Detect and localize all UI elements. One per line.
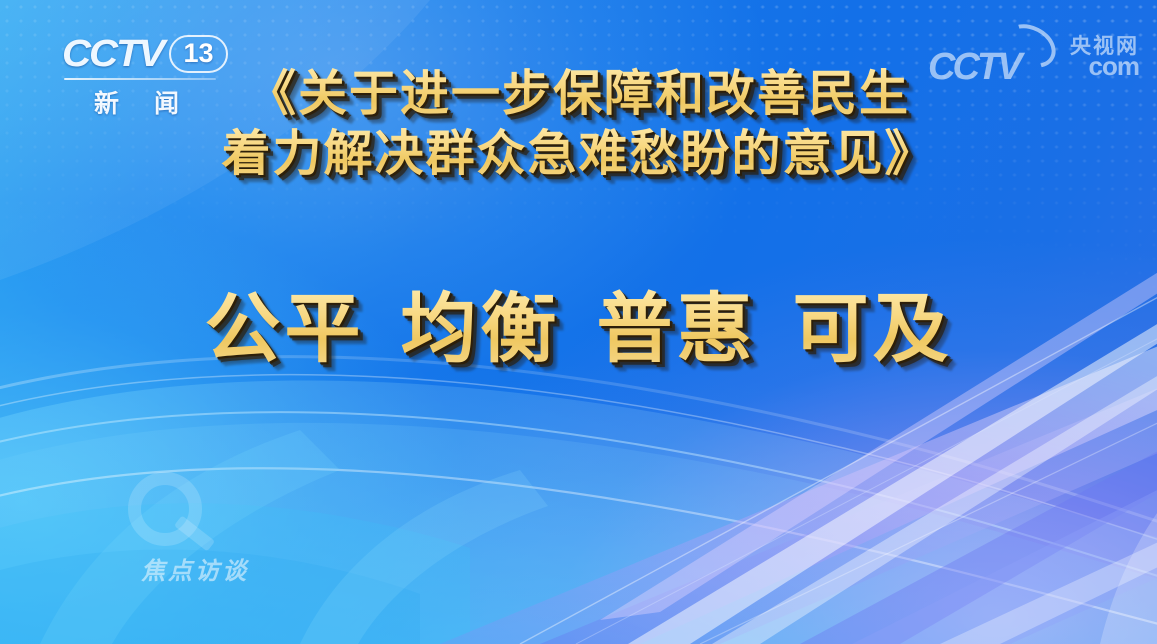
programme-name-label: 焦点访谈 xyxy=(100,551,290,586)
headline-word-2: 均衡 xyxy=(401,284,561,373)
programme-emblem-icon xyxy=(128,472,202,546)
programme-emblem-tail-icon xyxy=(174,515,215,551)
headline-word-4: 可及 xyxy=(793,284,953,373)
headline-word-3: 普惠 xyxy=(597,284,757,373)
broadcast-screen: CCTV 13 新 闻 央视网 CCTV com 《关于进一步保障和改善民生 着… xyxy=(0,0,1157,644)
document-title-line2: 着力解决群众急难愁盼的意见》 xyxy=(0,124,1157,184)
programme-watermark: 焦点访谈 xyxy=(100,472,290,584)
document-title-line1: 《关于进一步保障和改善民生 xyxy=(0,64,1157,124)
headline-word-1: 公平 xyxy=(205,284,365,373)
main-headline: 公平均衡普惠可及 xyxy=(0,281,1157,377)
